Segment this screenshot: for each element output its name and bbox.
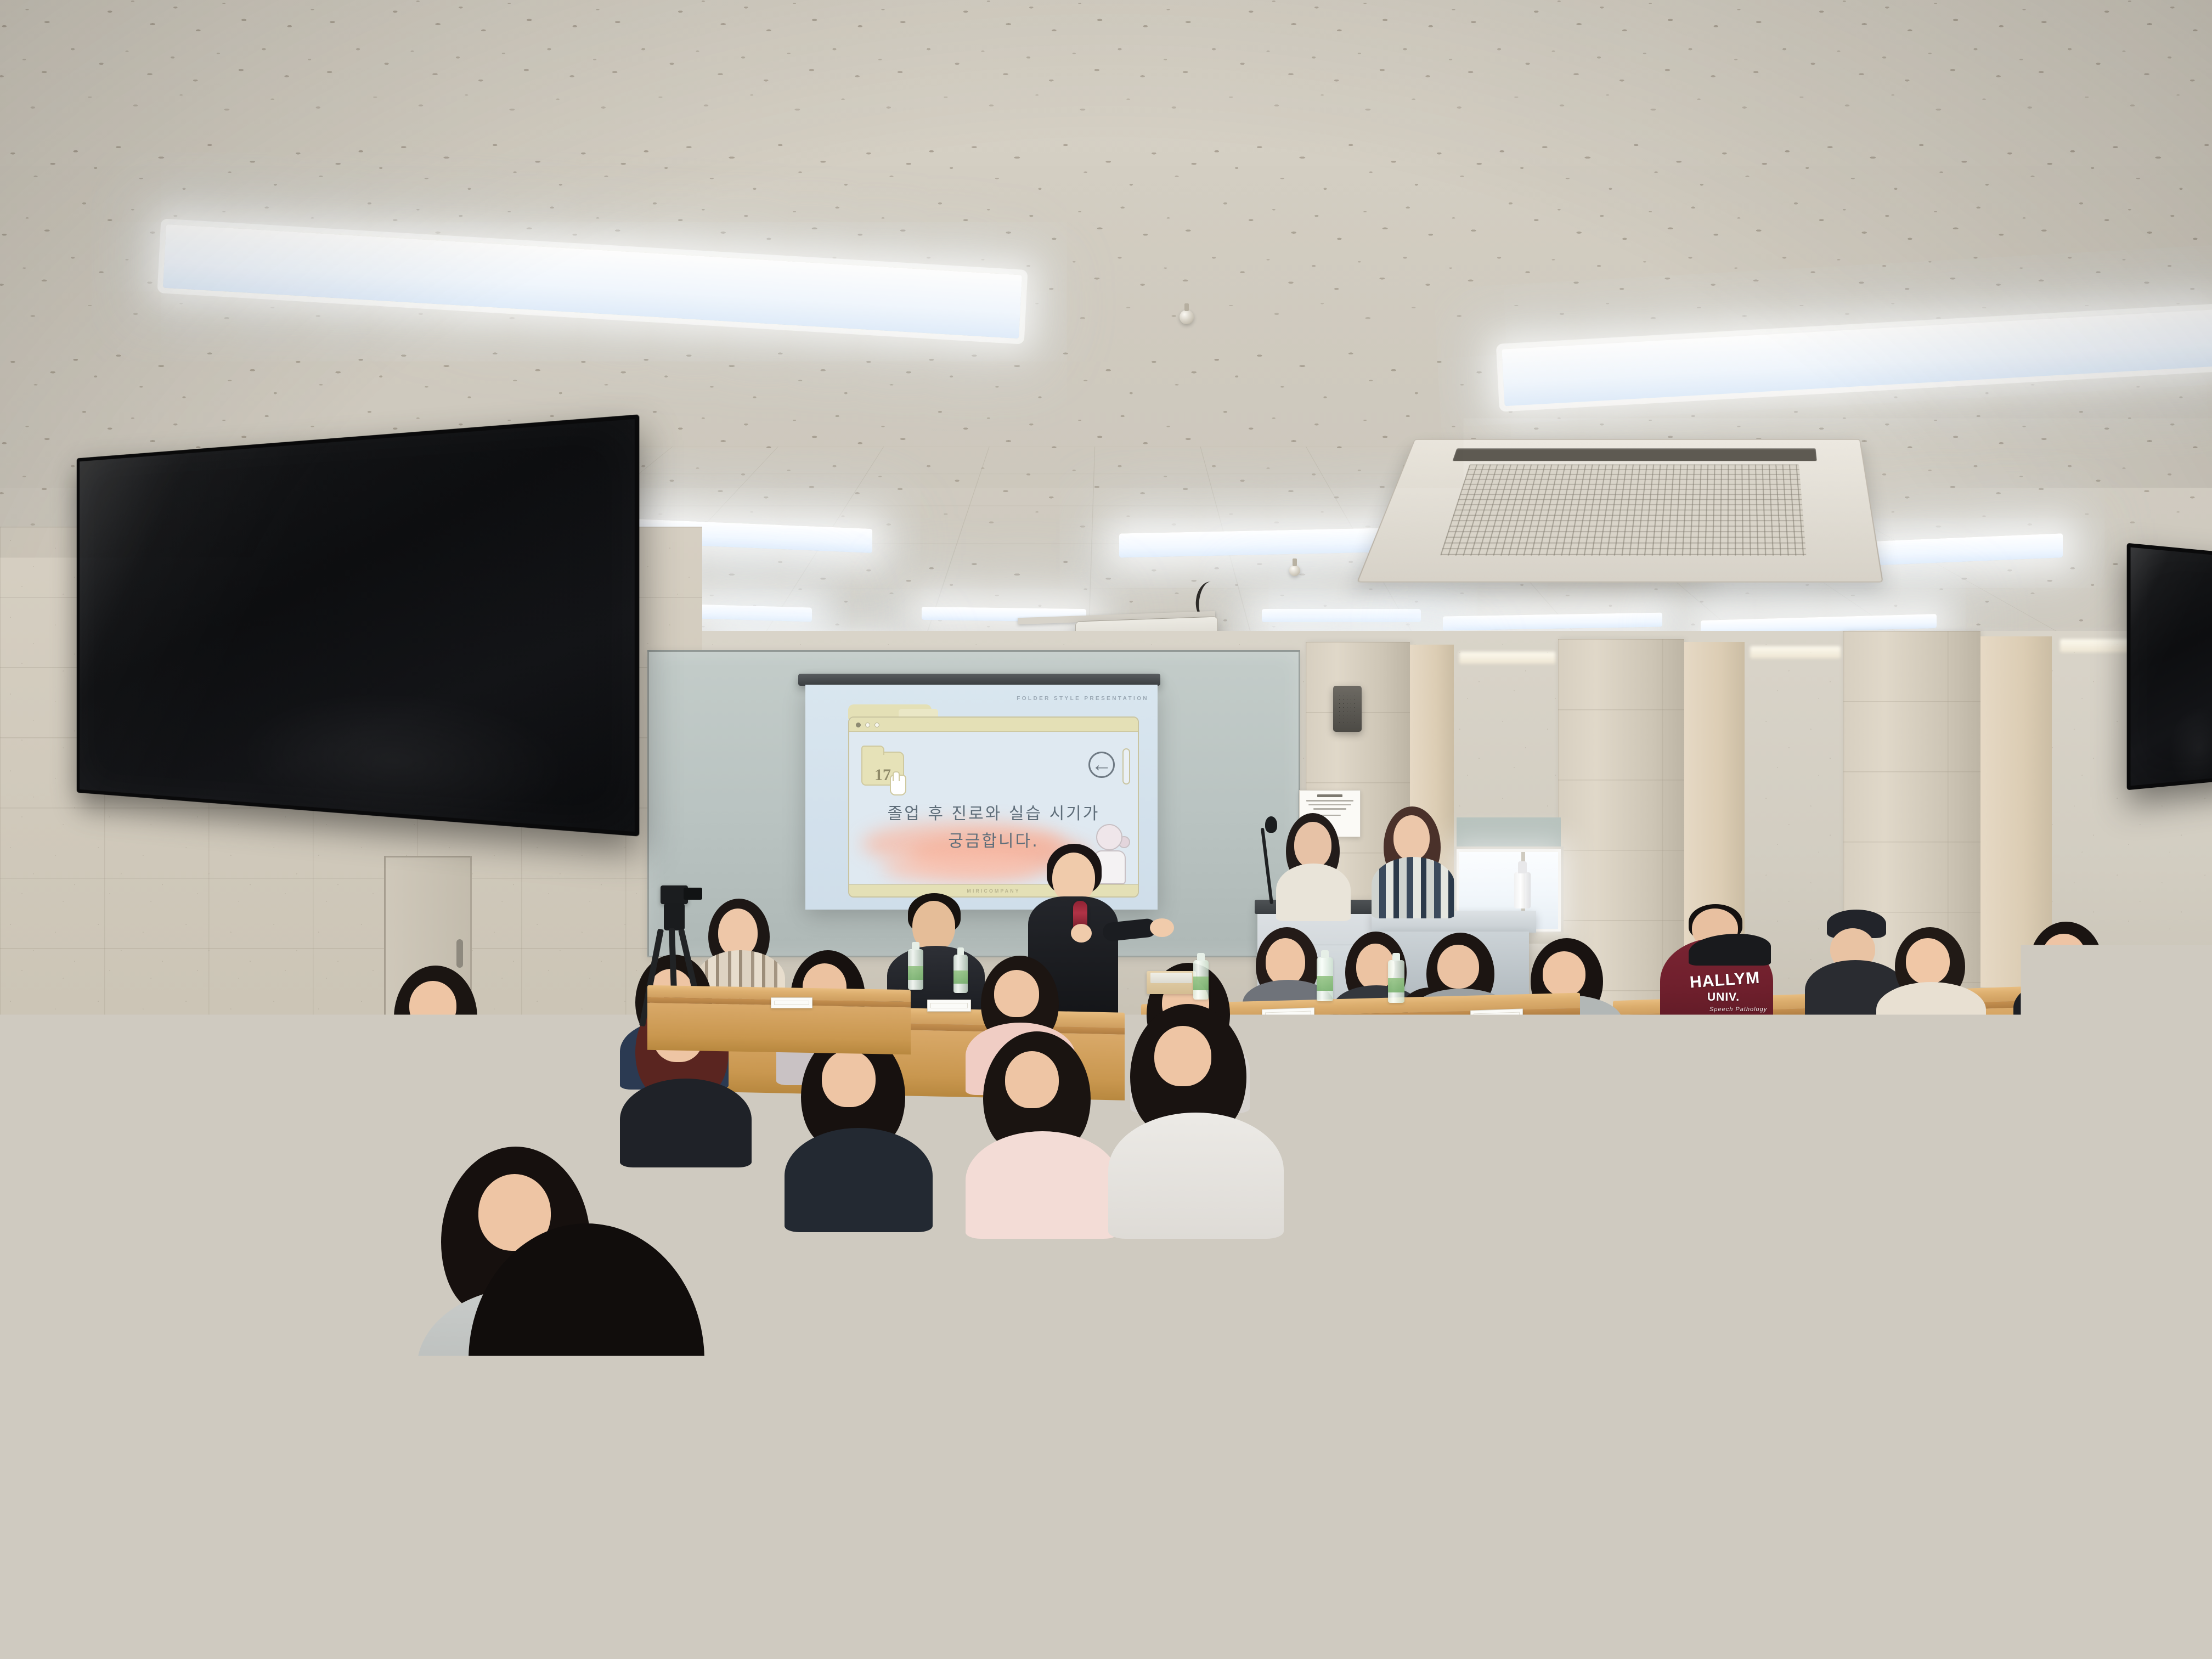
door-handle[interactable] [456, 939, 463, 968]
student-row3-grey-2-head [1543, 951, 1585, 996]
chair-aisle-right-1-back [1514, 1042, 1616, 1125]
student-beige-head [1906, 938, 1950, 984]
chair-aisle-right-3[interactable] [1745, 1169, 1876, 1399]
notice-body-line-3 [1313, 808, 1346, 810]
panelist-standing-right [1366, 806, 1465, 916]
student-mid-6-top [785, 1128, 933, 1232]
panelist-left-torso [1276, 864, 1351, 921]
slide-footer-brand: MIRICOMPANY [967, 888, 1020, 894]
student-foreground-5-hoodie [417, 1399, 752, 1659]
student-far-right-dark [2013, 922, 2129, 1037]
ac-vane-top [1452, 448, 1817, 461]
student-beige-top [1876, 982, 1986, 1042]
slide-scrollbar[interactable] [1122, 748, 1130, 785]
student-beige-right [1876, 927, 1991, 1037]
chair-foreground-center-back [889, 1470, 1068, 1607]
water-bottle-front-1 [908, 949, 923, 990]
chair-aisle-right-2[interactable] [1613, 1092, 1728, 1278]
slide-cursor-hand-icon [890, 775, 906, 795]
water-bottle-r2-1-label [1317, 976, 1333, 991]
handout-front-center [927, 1000, 971, 1012]
slide-window-dot-1 [856, 723, 861, 727]
chair-aisle-right-1[interactable] [1514, 1042, 1618, 1207]
panelist-standing-left [1267, 813, 1361, 917]
student-foreground-4-left [0, 1317, 285, 1659]
wall-speaker [1333, 686, 1362, 732]
notice-heading-line [1317, 794, 1342, 797]
water-bottle-r2-1 [1317, 957, 1333, 1001]
chair-foreground-center-2[interactable] [1317, 1440, 1498, 1638]
student-row2-3-head [994, 970, 1039, 1017]
slide-header-label: FOLDER STYLE PRESENTATION [1017, 696, 1149, 702]
water-bottle-front-2 [953, 955, 968, 993]
second-jacket-script: Speech Pathology [1398, 1102, 1465, 1110]
beverage-can-r3 [1904, 1155, 1931, 1221]
slide-window-dot-2 [865, 723, 870, 727]
water-bottle-front-2-label [953, 970, 968, 984]
slide-peach-accent-3 [882, 852, 1041, 884]
slide-text-line-1: 졸업 후 진로와 실습 시기가 [872, 800, 1115, 829]
desk-front-left-front [647, 1003, 911, 1054]
varsity-jacket-text-line2: UNIV. [1707, 991, 1740, 1004]
handout-r2-2 [1470, 1008, 1523, 1024]
handout-r1-1 [1119, 1308, 1229, 1341]
student-row3-grey-1-head [1437, 945, 1479, 989]
varsity-jacket-script: Speech Pathology [1709, 1006, 1767, 1013]
student-foreground-4-hair [38, 1317, 181, 1443]
hand-sanitizer-bottle [1514, 872, 1531, 909]
snack-box-r4 [2140, 1070, 2200, 1101]
chair-aisle-right-2-frame [1628, 1177, 1711, 1270]
student-foreground-5-center [417, 1333, 757, 1659]
panelist-right-head [1393, 815, 1430, 860]
chair-aisle-right-1-frame [1527, 1119, 1602, 1201]
tripod-head [664, 903, 685, 930]
student-far-right-head [2042, 934, 2086, 979]
student-mid-8-head [1154, 1026, 1211, 1086]
student-mid-6 [785, 1031, 938, 1229]
window-blind-1 [1457, 817, 1561, 848]
ac-grille [1440, 465, 1807, 556]
right-tv-screen-glare [2131, 548, 2212, 786]
water-bottle-r2-2 [1388, 960, 1404, 1003]
chair-aisle-right-4-back [1997, 1212, 2137, 1322]
ceiling-air-conditioner [1357, 439, 1883, 583]
slide-window-dot-3 [874, 723, 879, 727]
student-mid-7-top [966, 1131, 1119, 1239]
student-varsity-hallym: HALLYM UNIV. Speech Pathology [1657, 904, 1778, 1025]
snack-box-front [1147, 971, 1196, 994]
chair-aisle-right-3-frame [1762, 1270, 1855, 1388]
faculty-plaid-head [718, 909, 758, 957]
sprinkler-head-2 [1289, 565, 1300, 576]
student-mid-3-head [341, 1037, 392, 1090]
water-bottle-r2-2-label [1388, 978, 1404, 993]
right-wall-tv[interactable] [2127, 543, 2212, 791]
sprinkler-head-1 [1180, 310, 1194, 324]
moderator-head [1052, 853, 1095, 903]
projection-screen-housing [798, 674, 1160, 686]
moderator-gesturing-hand [1150, 918, 1174, 937]
wall-glow-strip-1 [1459, 652, 1555, 664]
handout-front-left [771, 997, 812, 1008]
panelist-right-torso [1372, 857, 1455, 918]
moderator-mic-hand [1071, 924, 1092, 943]
student-mid-4-head [503, 1060, 556, 1116]
lecture-hall-photo: FOLDER STYLE PRESENTATION 17 [0, 0, 2212, 1659]
ceiling-light-8 [1262, 609, 1421, 622]
left-wall-tv[interactable] [77, 414, 640, 836]
water-bottle-front-1-label [908, 966, 923, 980]
chair-aisle-right-3-back [1745, 1169, 1874, 1276]
student-mid-8-white-hoodie [1108, 1004, 1289, 1234]
left-tv-screen-glare [80, 419, 635, 832]
chair-aisle-right-2-back [1613, 1092, 1726, 1182]
panelist-left-head [1294, 822, 1331, 868]
wall-glow-strip-2 [1750, 646, 1841, 658]
slide-back-arrow-glyph: ← [1091, 754, 1112, 775]
chair-aisle-right-4[interactable] [1997, 1212, 2140, 1432]
video-camera-lens [684, 888, 702, 900]
chair-foreground-center[interactable] [889, 1470, 1070, 1659]
notice-body-line-2 [1308, 804, 1351, 806]
water-bottle-front-3 [1193, 960, 1209, 1000]
student-mid-7 [966, 1031, 1125, 1234]
beverage-can-r4 [2085, 1070, 2110, 1131]
attendee-front-right-1-head [1266, 938, 1305, 985]
student-mid-7-head [1005, 1051, 1059, 1108]
student-foreground-4-top [0, 1424, 274, 1659]
slide-window-titlebar [849, 718, 1138, 732]
chair-foreground-center-2-back [1317, 1440, 1496, 1580]
slide-back-arrow-icon[interactable]: ← [1088, 752, 1115, 778]
student-mid-8-hoodie [1108, 1113, 1284, 1239]
water-bottle-front-3-label [1193, 977, 1209, 990]
student-far-right-top [2013, 978, 2125, 1043]
notice-body-line-1 [1306, 800, 1353, 802]
